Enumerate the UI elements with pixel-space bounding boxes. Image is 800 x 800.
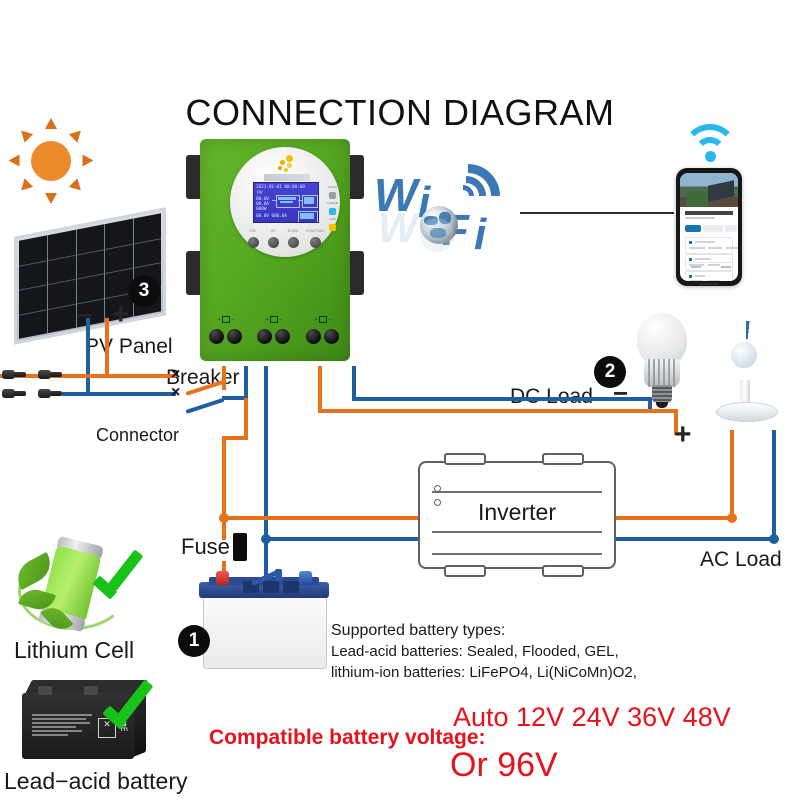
wire-inverter-positive (222, 516, 418, 520)
breaker-x-lower: × (171, 384, 180, 402)
app-subtitle (685, 217, 715, 219)
page-title: CONNECTION DIAGRAM (0, 92, 800, 134)
wire-ac-negative-to-fan (772, 430, 776, 540)
wire-dc-positive-down (318, 366, 322, 412)
wire-breaker-in-positive (62, 374, 176, 378)
wire-ac-positive-run (616, 516, 736, 520)
pv-terminal-group[interactable]: +− (208, 327, 244, 347)
app-card (685, 237, 733, 254)
brand-wordmark (264, 174, 310, 181)
wifi-link-line (520, 212, 674, 214)
phone-home-indicator (699, 283, 719, 285)
wifi-signal-icon (682, 124, 738, 162)
function-button[interactable] (310, 237, 321, 248)
mc4-connector-negative-b (38, 388, 62, 399)
pv-panel-label: PV Panel (85, 335, 173, 359)
battery-handle (251, 567, 285, 583)
controller-status-leds: SOLAR CHARGE LOAD (326, 185, 339, 233)
up-button[interactable] (268, 237, 279, 248)
phone-notch (696, 168, 722, 173)
function-button-label: FUNCTION (300, 229, 330, 233)
wire-pv-positive-down (105, 318, 109, 374)
wire-battery-positive-up (244, 398, 248, 440)
badge-pv-panel: 3 (128, 275, 160, 307)
esc-button[interactable] (248, 237, 259, 248)
controller-lcd-display: 2021-01-01 00:00:00 PV 00.0V 00.0A 000W … (253, 182, 319, 223)
wire-controller-pv-negative (244, 366, 248, 400)
supported-battery-heading: Supported battery types: (331, 622, 505, 640)
wire-inverter-negative (264, 537, 418, 541)
led-bulb-icon (633, 313, 691, 409)
esc-button-label: ESC (242, 229, 264, 233)
breaker-x-upper: × (171, 366, 180, 384)
app-hero-photo (680, 173, 738, 207)
fuse-component (233, 533, 247, 561)
wire-ac-negative-run (616, 537, 776, 541)
junction-negative-inverter (261, 534, 271, 544)
smartphone-app-icon[interactable] (676, 168, 742, 286)
led-load (329, 224, 336, 231)
junction-positive-inverter (219, 513, 229, 523)
inverter-graphic: Inverter (418, 461, 616, 569)
badge-dc-load: 2 (594, 356, 626, 388)
connector-label: Connector (96, 425, 179, 446)
wire-dc-negative-down (352, 366, 356, 400)
pv-plus-sign: + (112, 298, 130, 332)
wifi-logo-icon: W i F i W (374, 160, 524, 268)
app-title-bar (685, 211, 733, 215)
wire-breaker-in-negative (62, 392, 176, 396)
load-terminal-group[interactable]: +− (305, 327, 341, 347)
battery-terminal-labels: +− (256, 316, 292, 323)
mc4-connector-positive-b (38, 369, 62, 380)
pv-minus-sign: − (77, 300, 92, 331)
lcd-datetime: 2021-01-01 00:00:00 (256, 185, 316, 190)
load-terminal-labels: +− (305, 316, 341, 323)
wire-battery-negative-vertical (264, 366, 268, 590)
app-nav-bar[interactable] (685, 262, 733, 273)
supported-battery-line-1: Lead-acid batteries: Sealed, Flooded, GE… (331, 643, 619, 660)
compatible-voltage-label: Compatible battery voltage: (209, 726, 486, 750)
wire-battery-positive-vertical (222, 440, 226, 540)
sun-icon (8, 118, 94, 204)
battery-positive-post (216, 571, 229, 585)
inverter-label: Inverter (418, 499, 616, 526)
supported-battery-line-2: lithium-ion batteries: LiFePO4, Li(NiCoM… (331, 664, 637, 681)
voltage-line-2: Or 96V (450, 746, 558, 785)
lithium-cell-label: Lithium Cell (14, 637, 134, 664)
badge-battery: 1 (178, 625, 210, 657)
junction-ac-negative (769, 534, 779, 544)
mc4-connector-positive-a (2, 369, 26, 380)
lead-acid-battery-label: Lead−acid battery (4, 768, 188, 795)
led-solar (329, 192, 336, 199)
controller-terminal-row: +− +− +− (206, 315, 346, 359)
solar-charge-controller[interactable]: 2021-01-01 00:00:00 PV 00.0V 00.0A 000W … (186, 133, 364, 365)
breaker-arm-negative[interactable] (185, 398, 224, 414)
app-tab-bar[interactable] (685, 225, 733, 232)
ac-load-label: AC Load (700, 548, 782, 572)
electric-fan-icon (700, 318, 792, 428)
wire-dc-positive-run (318, 409, 678, 413)
wifi-logo-reflection: W (378, 204, 418, 252)
up-button-label: UP (262, 229, 284, 233)
down-button[interactable] (288, 237, 299, 248)
connection-diagram-canvas: CONNECTION DIAGRAM − + PV Panel 3 (0, 0, 800, 800)
controller-button-row: ESC UP DOWN FUNCTION (246, 229, 328, 249)
led-label-charge: CHARGE (326, 201, 339, 205)
pv-terminal-labels: +− (208, 316, 244, 323)
dc-plus-sign: + (674, 418, 692, 452)
wire-dc-negative-run (352, 397, 652, 401)
mc4-connector-negative-a (2, 388, 26, 399)
green-check-icon (96, 548, 150, 594)
junction-ac-positive (727, 513, 737, 523)
wire-ac-positive-to-fan (730, 430, 734, 518)
battery-terminal-group[interactable]: +− (256, 327, 292, 347)
battery-graphic (199, 569, 329, 667)
battery-negative-post (299, 571, 312, 585)
green-check-icon (106, 678, 160, 724)
led-label-solar: SOLAR (326, 185, 339, 189)
voltage-line-1: Auto 12V 24V 36V 48V (453, 702, 731, 733)
brand-logo-icon (276, 155, 296, 173)
led-charge (329, 208, 336, 215)
led-label-load: LOAD (326, 217, 339, 221)
